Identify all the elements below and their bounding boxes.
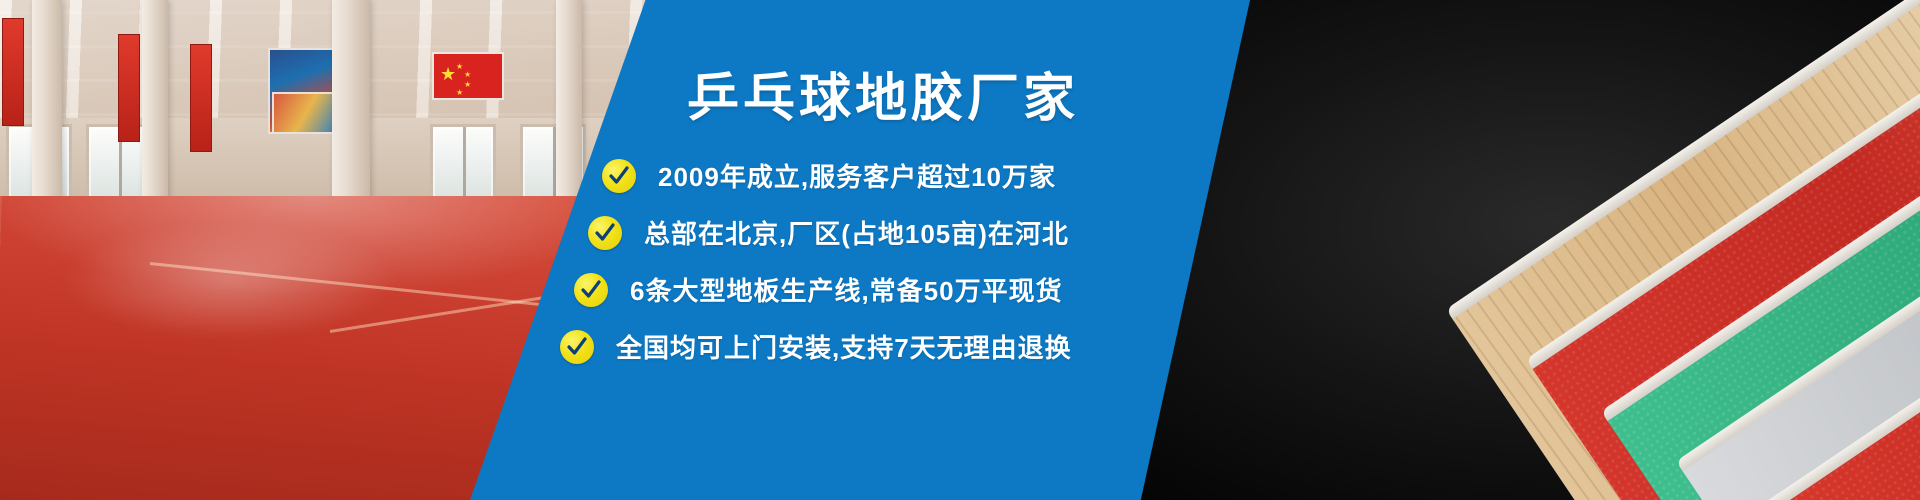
page-title: 乒乓球地胶厂家 xyxy=(516,56,1250,131)
feature-list: 2009年成立,服务客户超过10万家 总部在北京,厂区(占地105亩)在河北 6… xyxy=(470,157,1250,365)
panel-content: 乒乓球地胶厂家 2009年成立,服务客户超过10万家 总部在北京,厂区(占地10… xyxy=(470,0,1250,500)
list-item-label: 2009年成立,服务客户超过10万家 xyxy=(658,157,1056,194)
list-item-label: 全国均可上门安装,支持7天无理由退换 xyxy=(616,328,1072,365)
wall-banner xyxy=(118,34,140,142)
wall-banner xyxy=(190,44,212,152)
check-circle-icon xyxy=(602,159,636,193)
promo-banner: ★ ★ ★ ★ ★ xyxy=(0,0,1920,500)
floor-glare xyxy=(60,220,400,340)
list-item-label: 总部在北京,厂区(占地105亩)在河北 xyxy=(644,214,1069,251)
check-circle-icon xyxy=(560,330,594,364)
list-item-label: 6条大型地板生产线,常备50万平现货 xyxy=(630,271,1063,308)
check-circle-icon xyxy=(588,216,622,250)
list-item: 6条大型地板生产线,常备50万平现货 xyxy=(574,271,1250,308)
wall-banner xyxy=(2,18,24,126)
flag-star: ★ xyxy=(440,68,456,81)
list-item: 总部在北京,厂区(占地105亩)在河北 xyxy=(588,214,1250,251)
gym-pillar xyxy=(142,0,168,212)
flag-star: ★ xyxy=(456,86,463,99)
flag-star: ★ xyxy=(456,60,463,73)
list-item: 全国均可上门安装,支持7天无理由退换 xyxy=(560,328,1250,365)
wall-poster xyxy=(272,92,340,134)
check-circle-icon xyxy=(574,273,608,307)
gym-pillar xyxy=(32,0,62,218)
list-item: 2009年成立,服务客户超过10万家 xyxy=(602,157,1250,194)
